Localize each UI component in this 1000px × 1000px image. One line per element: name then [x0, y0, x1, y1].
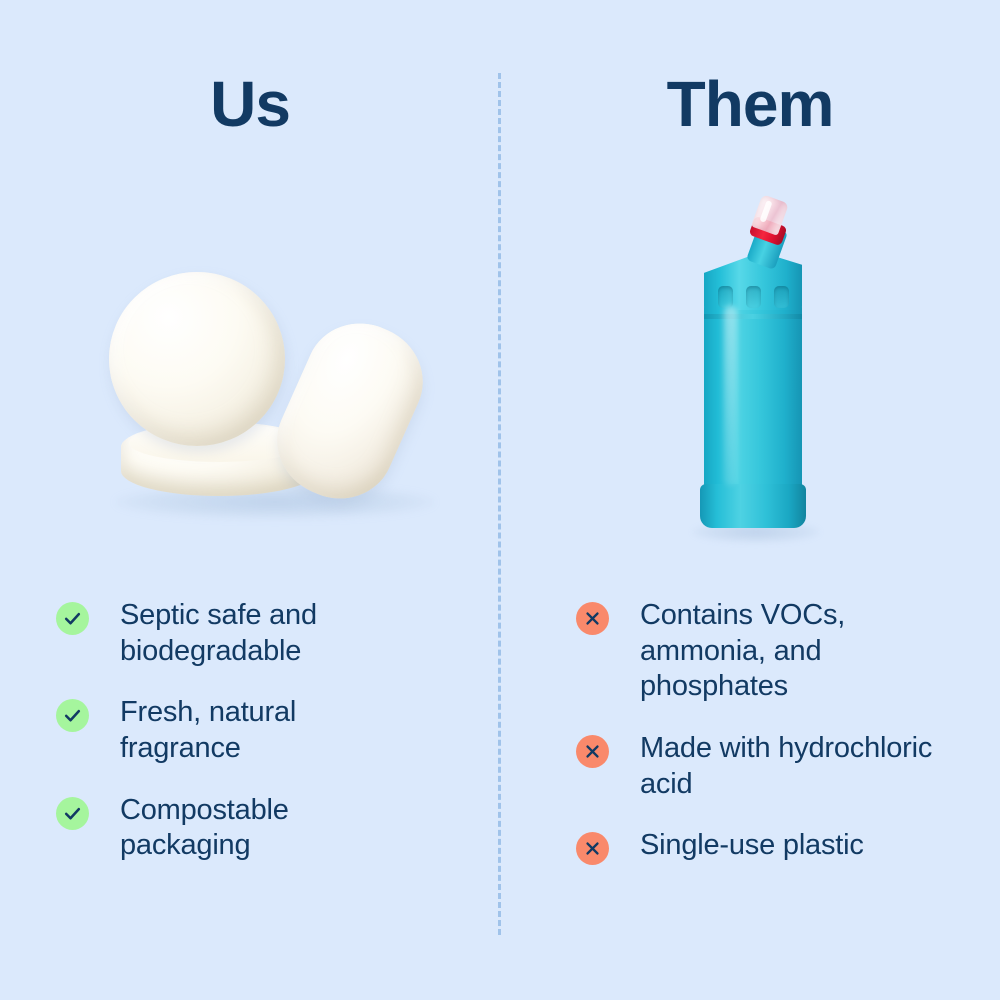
list-item-label: Made with hydrochloric acid — [640, 731, 940, 802]
cross-icon — [576, 832, 609, 865]
list-item: Contains VOCs, ammonia, and phosphates — [576, 598, 976, 705]
list-item: Single-use plastic — [576, 828, 976, 865]
check-icon — [56, 797, 89, 830]
list-item: Compostable packaging — [56, 793, 456, 864]
bottle-seam — [704, 314, 802, 319]
list-item-label: Fresh, natural fragrance — [120, 695, 420, 766]
list-item-label: Compostable packaging — [120, 793, 420, 864]
bottle-grip-dimple — [718, 286, 733, 308]
cross-icon — [576, 735, 609, 768]
drawbacks-list-them: Contains VOCs, ammonia, and phosphates M… — [576, 598, 976, 891]
bottle-base — [700, 484, 806, 528]
cross-icon — [576, 602, 609, 635]
cleaning-tablets-image — [95, 270, 445, 550]
bottle-highlight — [724, 306, 737, 486]
toilet-cleaner-bottle-image — [690, 196, 820, 541]
check-icon — [56, 602, 89, 635]
list-item-label: Single-use plastic — [640, 828, 864, 864]
bottle-body — [704, 300, 802, 496]
list-item-label: Contains VOCs, ammonia, and phosphates — [640, 598, 940, 705]
bottle-grip-dimple — [774, 286, 789, 308]
list-item: Fresh, natural fragrance — [56, 695, 456, 766]
column-heading-us: Us — [0, 72, 500, 136]
tablet-standing — [109, 272, 285, 446]
benefits-list-us: Septic safe and biodegradable Fresh, nat… — [56, 598, 456, 890]
comparison-infographic: Us Them Septic safe and biode — [0, 0, 1000, 1000]
vertical-dashed-divider — [498, 73, 501, 935]
list-item: Made with hydrochloric acid — [576, 731, 976, 802]
list-item: Septic safe and biodegradable — [56, 598, 456, 669]
check-icon — [56, 699, 89, 732]
column-heading-them: Them — [500, 72, 1000, 136]
list-item-label: Septic safe and biodegradable — [120, 598, 420, 669]
bottle-grip-dimple — [746, 286, 761, 308]
